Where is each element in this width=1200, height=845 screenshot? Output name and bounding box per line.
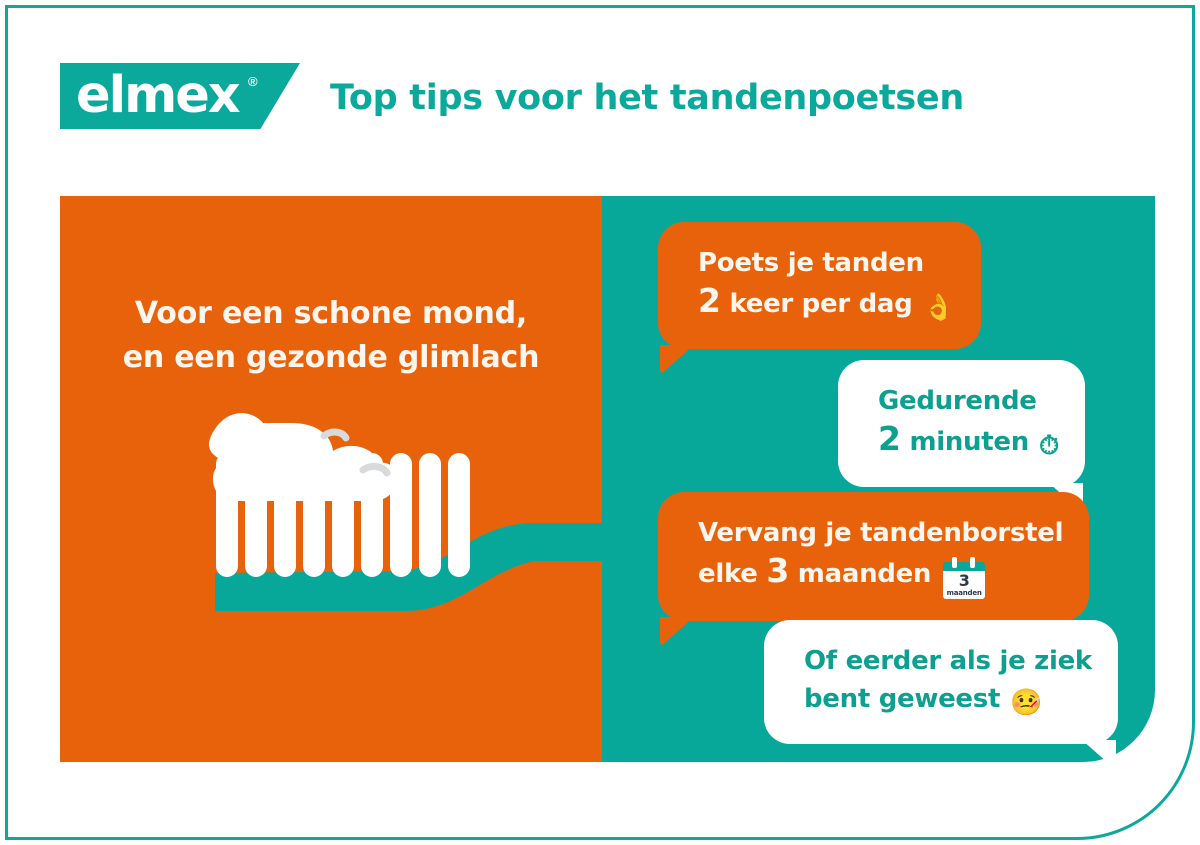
calendar-icon: 3 maanden [943, 557, 985, 599]
left-headline-line-1: Voor een schone mond, [60, 292, 602, 336]
calendar-label: maanden [943, 589, 985, 597]
logo-wordmark: elmex [76, 67, 239, 125]
tip-line-2-prefix: elke [698, 559, 758, 589]
tip-number: 3 [766, 551, 789, 590]
left-headline: Voor een schone mond, en een gezonde gli… [60, 292, 602, 380]
tip-line-1: Poets je tanden [698, 244, 955, 282]
bubble-body: Gedurende 2 minuten⏱ [838, 360, 1085, 487]
toothbrush-icon [205, 411, 635, 641]
tip-bubble-replace-brush: Vervang je tandenborstel elke 3 maanden … [658, 492, 1089, 621]
tip-line-2-rest: keer per dag [729, 289, 912, 319]
tip-bubble-after-illness: Of eerder als je ziek bent geweest🤒 [764, 620, 1118, 744]
bubble-body: Of eerder als je ziek bent geweest🤒 [764, 620, 1118, 744]
tip-line-2-rest: minuten [909, 427, 1029, 457]
ok-hand-icon: 👌 [922, 289, 954, 327]
bubble-body: Vervang je tandenborstel elke 3 maanden … [658, 492, 1089, 621]
left-headline-line-2: en een gezonde glimlach [60, 336, 602, 380]
bubble-tail [660, 345, 694, 375]
tip-number: 2 [698, 281, 721, 320]
infographic-page: elmex ® Top tips voor het tandenpoetsen … [0, 0, 1200, 845]
sick-face-icon: 🤒 [1010, 684, 1042, 722]
page-title: Top tips voor het tandenpoetsen [330, 78, 964, 118]
tip-number: 2 [878, 419, 901, 458]
tip-line-2-rest: bent geweest [804, 684, 1000, 714]
elmex-logo: elmex ® [60, 63, 300, 129]
bubble-tail [660, 617, 694, 647]
tip-line-2: bent geweest🤒 [804, 680, 1092, 722]
calendar-header [943, 562, 985, 571]
tip-line-1: Of eerder als je ziek [804, 642, 1092, 680]
bubble-body: Poets je tanden 2 keer per dag👌 [658, 222, 981, 349]
calendar-ring-right [970, 557, 975, 568]
stopwatch-icon: ⏱ [1039, 427, 1059, 465]
tip-line-2: 2 minuten⏱ [878, 420, 1059, 465]
tip-line-2-rest: maanden [798, 559, 931, 589]
registered-trademark-icon: ® [248, 75, 258, 88]
tip-line-2: elke 3 maanden 3 maanden [698, 552, 1063, 599]
header: elmex ® Top tips voor het tandenpoetsen [0, 0, 1200, 190]
tip-line-2: 2 keer per dag👌 [698, 282, 955, 327]
bubble-tail [1082, 740, 1116, 770]
left-orange-panel: Voor een schone mond, en een gezonde gli… [60, 196, 602, 762]
tip-line-1: Gedurende [878, 382, 1059, 420]
calendar-number: 3 [943, 571, 985, 589]
calendar-ring-left [952, 557, 957, 568]
tip-bubble-two-minutes: Gedurende 2 minuten⏱ [838, 360, 1085, 487]
tip-line-1: Vervang je tandenborstel [698, 514, 1063, 552]
tip-bubble-brush-twice: Poets je tanden 2 keer per dag👌 [658, 222, 981, 349]
calendar-body: 3 maanden [943, 571, 985, 599]
